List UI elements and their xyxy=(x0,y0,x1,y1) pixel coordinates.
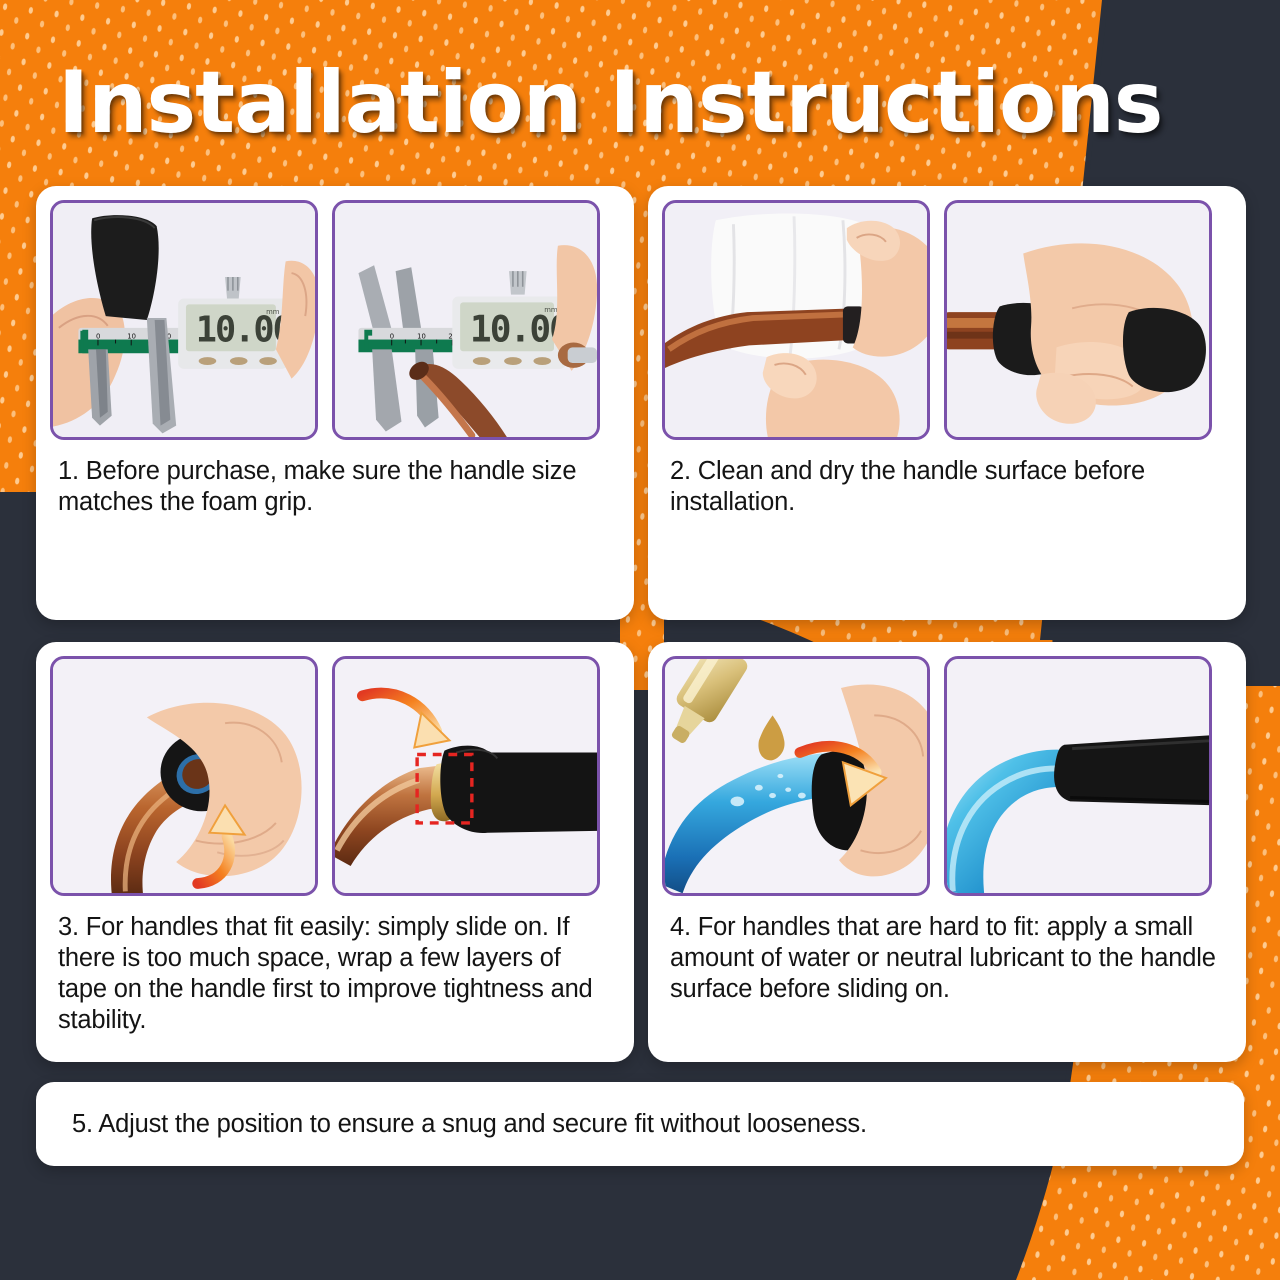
photo-caliper-measuring-copper-tube: 0 10 20 xyxy=(332,200,600,440)
photo-finished-grip-on-blue-tube xyxy=(944,656,1212,896)
svg-text:mm: mm xyxy=(266,308,280,316)
photo-sliding-grip-onto-copper-tube xyxy=(50,656,318,896)
photo-hand-gripping-installed-foam-grip xyxy=(944,200,1212,440)
page-header: Installation Instructions xyxy=(0,48,1280,158)
photo-applying-lubricant-to-blue-tube xyxy=(662,656,930,896)
svg-text:10: 10 xyxy=(127,333,136,341)
step-card-3: 3. For handles that fit easily: simply s… xyxy=(36,642,634,1062)
step-4-photos xyxy=(662,656,1232,896)
page-title: Installation Instructions xyxy=(58,56,1162,150)
step-1-caption: 1. Before purchase, make sure the handle… xyxy=(58,456,616,518)
steps-grid: 0 10 20 xyxy=(0,186,1280,1062)
photo-wiping-handle-with-cloth xyxy=(662,200,930,440)
step-5-caption: 5. Adjust the position to ensure a snug … xyxy=(72,1109,867,1139)
step-card-5: 5. Adjust the position to ensure a snug … xyxy=(36,1082,1244,1166)
step-card-1: 0 10 20 xyxy=(36,186,634,620)
svg-text:mm: mm xyxy=(544,306,558,314)
step-2-caption: 2. Clean and dry the handle surface befo… xyxy=(670,456,1228,518)
photo-gap-between-tube-and-grip xyxy=(332,656,600,896)
svg-text:0: 0 xyxy=(96,333,100,341)
step-card-2: 2. Clean and dry the handle surface befo… xyxy=(648,186,1246,620)
step-3-photos xyxy=(50,656,620,896)
step-1-photos: 0 10 20 xyxy=(50,200,620,440)
step-card-4: 4. For handles that are hard to fit: app… xyxy=(648,642,1246,1062)
svg-text:10: 10 xyxy=(417,333,426,341)
step-3-caption: 3. For handles that fit easily: simply s… xyxy=(58,912,616,1036)
svg-text:0: 0 xyxy=(390,333,394,341)
step-2-photos xyxy=(662,200,1232,440)
photo-caliper-measuring-foam-grip: 0 10 20 xyxy=(50,200,318,440)
step-4-caption: 4. For handles that are hard to fit: app… xyxy=(670,912,1228,1005)
